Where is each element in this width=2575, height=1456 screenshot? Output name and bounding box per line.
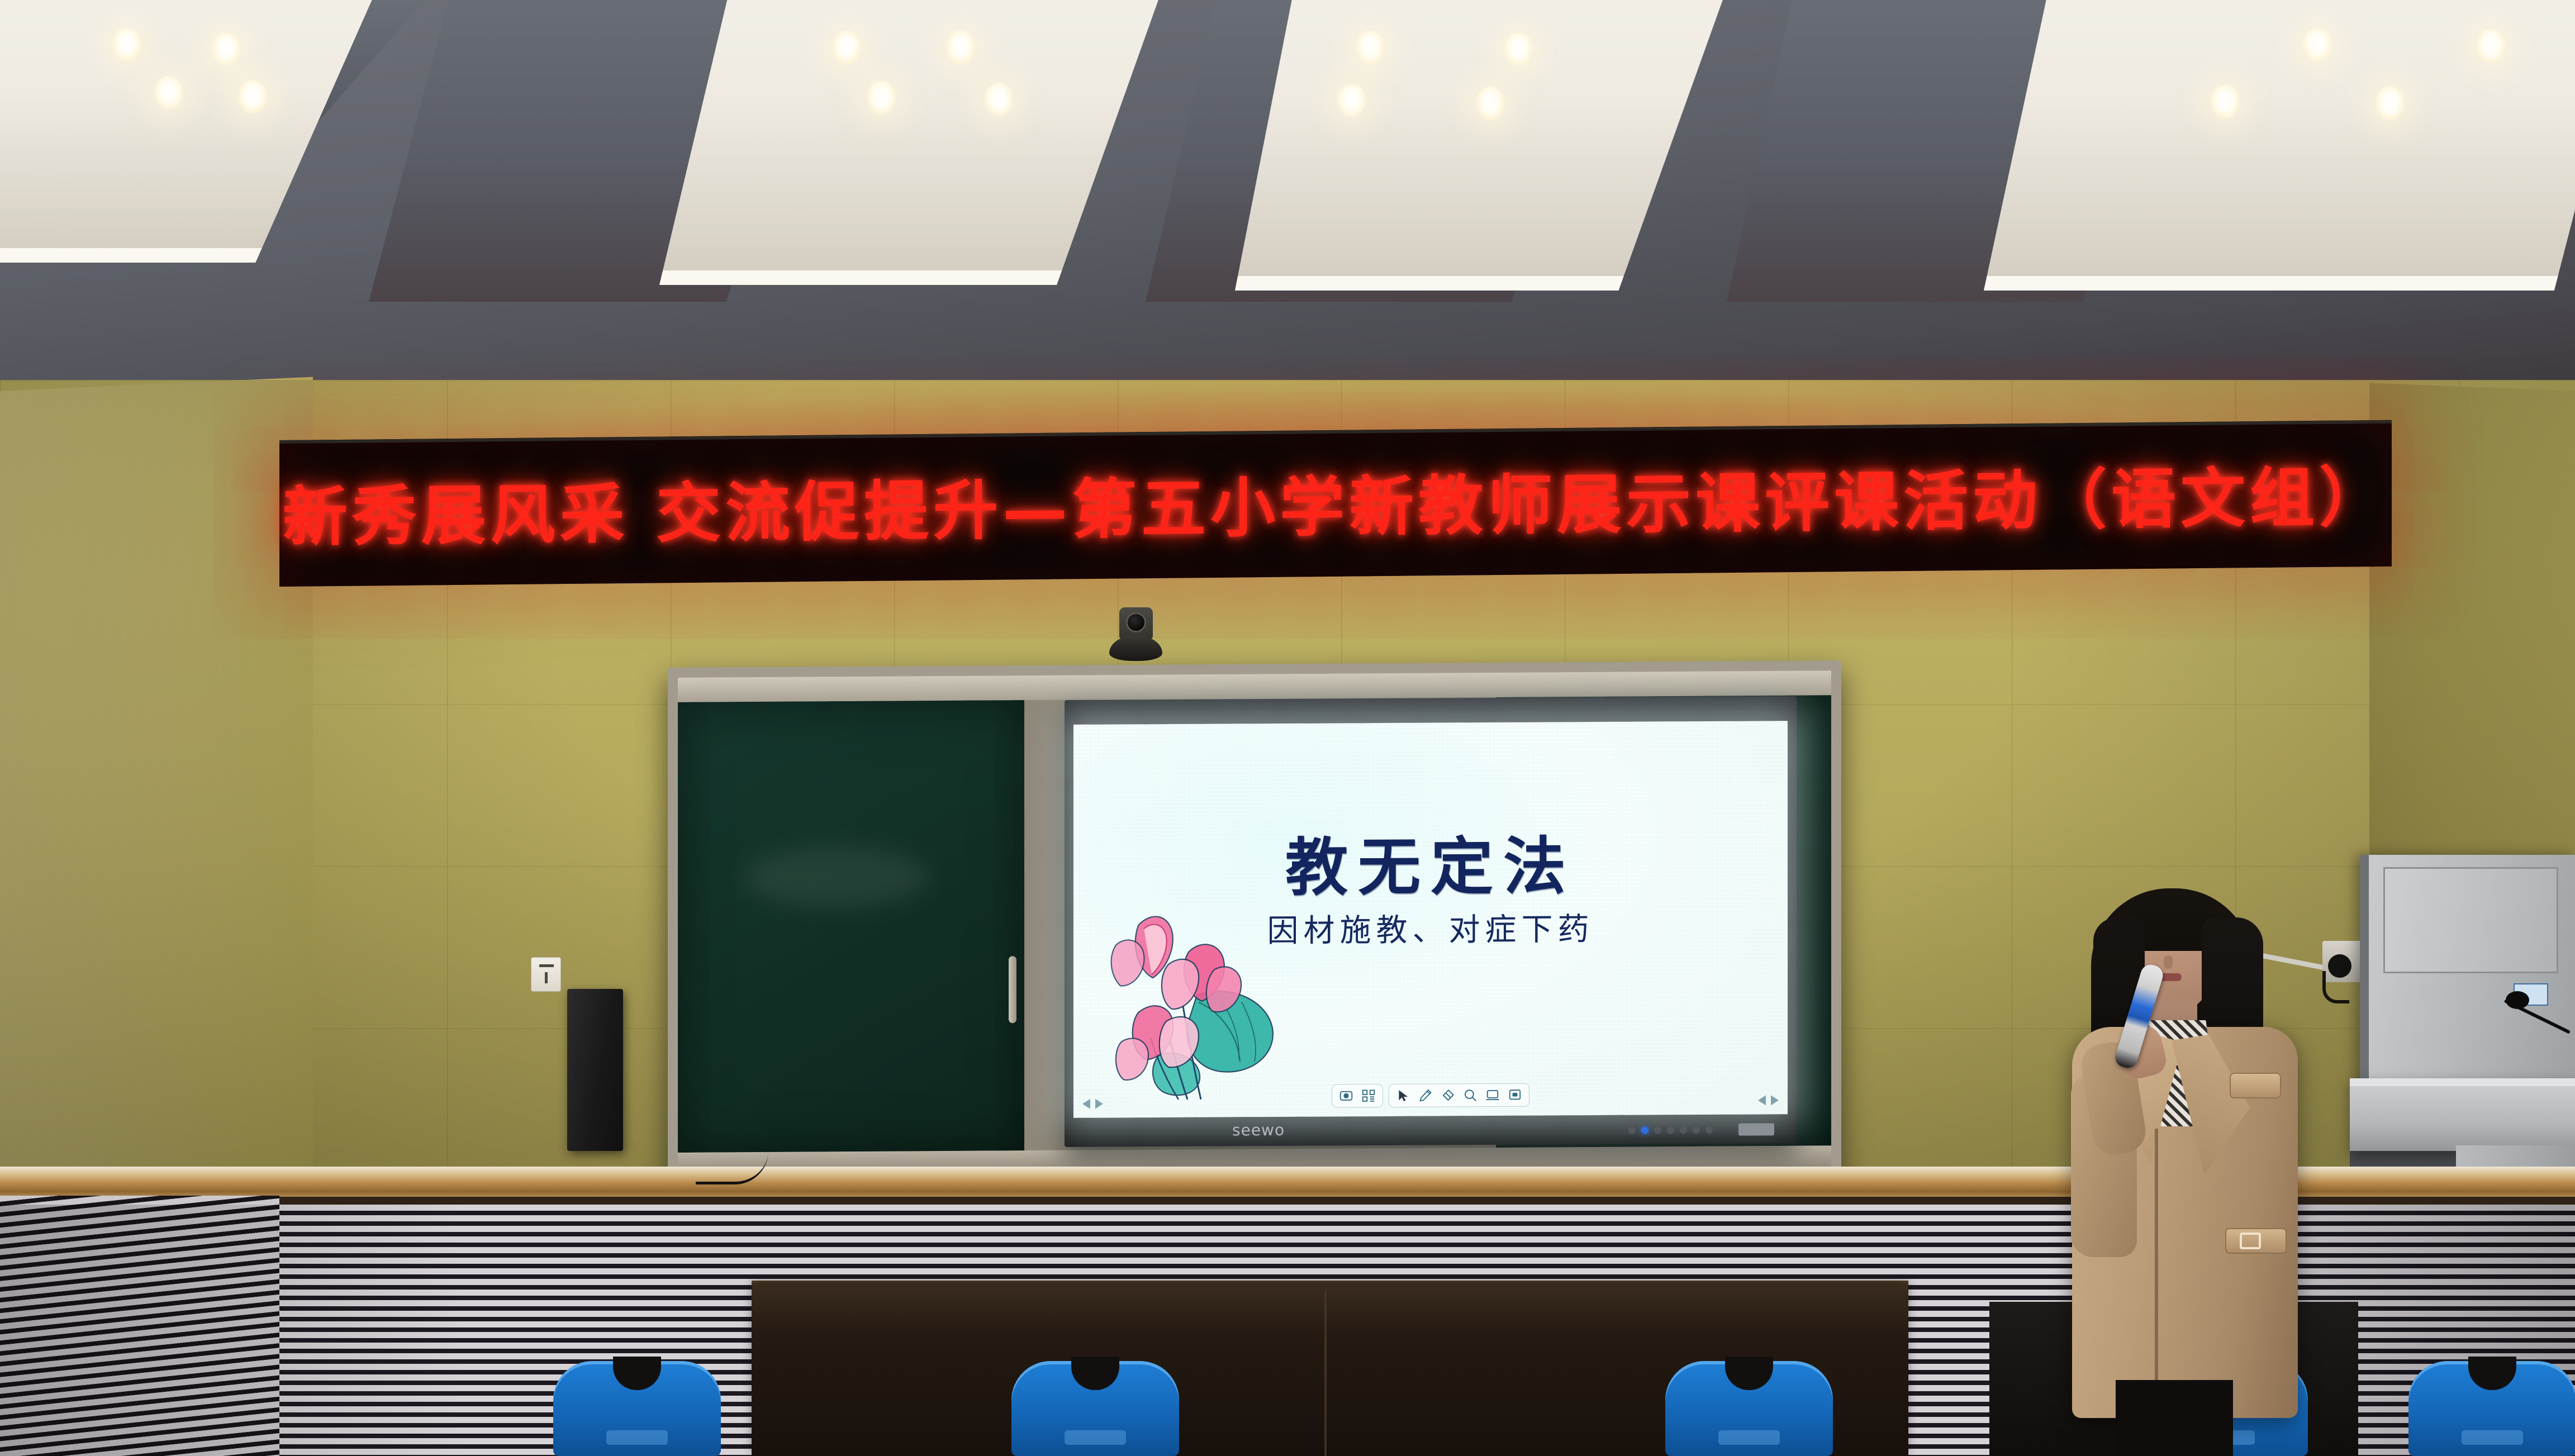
power-outlet[interactable] — [531, 957, 561, 992]
downlight — [1503, 32, 1533, 67]
downlight — [1475, 87, 1505, 121]
chalkboard-panel-left[interactable] — [678, 700, 1024, 1153]
audience-chair — [1665, 1361, 1833, 1456]
next-slide-icon[interactable] — [1095, 1099, 1103, 1109]
downlight — [237, 80, 268, 115]
ceiling-soffit-bay-3 — [1235, 0, 1727, 291]
classroom-photo-scene: 新秀展风采 交流促提升—第五小学新教师展示课评课活动（语文组） — [0, 0, 2575, 1456]
downlight — [211, 32, 241, 67]
home-icon[interactable] — [1339, 1088, 1353, 1103]
ptz-camera-lens-icon — [1126, 612, 1146, 632]
soffit-lip — [0, 248, 374, 263]
led-banner: 新秀展风采 交流促提升—第五小学新教师展示课评课活动（语文组） — [279, 420, 2392, 587]
front-desk-seam — [1324, 1292, 1327, 1456]
led-indicator — [1693, 1126, 1700, 1134]
led-indicator — [1628, 1127, 1636, 1134]
led-indicator — [1680, 1126, 1687, 1134]
eraser-icon[interactable] — [1441, 1088, 1455, 1102]
podium-desktop — [2350, 1078, 2575, 1151]
cuff-buckle — [2240, 1233, 2261, 1249]
slide-title: 教无定法 — [1073, 815, 1788, 909]
soffit-lip — [1984, 276, 2575, 291]
ceiling-soffit-bay-1 — [0, 0, 374, 263]
audience-chair — [1011, 1361, 1179, 1456]
audience-chair — [553, 1361, 721, 1456]
pen-icon[interactable] — [1418, 1088, 1433, 1103]
led-indicator-power — [1641, 1127, 1648, 1134]
slide-toolbar[interactable] — [1332, 1083, 1529, 1108]
speaking-teacher — [2062, 888, 2302, 1456]
soffit-lip — [1235, 276, 1727, 291]
ceiling-soffit-bay-2 — [659, 0, 1162, 285]
coat-placket — [2155, 1129, 2158, 1408]
downlight — [112, 28, 142, 63]
cursor-icon[interactable] — [1396, 1088, 1410, 1103]
next-slide-icon[interactable] — [1771, 1095, 1779, 1105]
whiteboard-indicator-leds — [1628, 1126, 1713, 1134]
downlight — [154, 76, 184, 111]
ceiling — [0, 0, 2575, 441]
presentation-icon[interactable] — [1508, 1088, 1522, 1102]
downlight — [946, 31, 976, 65]
led-indicator — [1705, 1126, 1713, 1134]
nose — [2164, 955, 2173, 969]
downlight — [1355, 31, 1385, 65]
podium-desktop-edge — [2350, 1078, 2575, 1086]
toolbar-group-left[interactable] — [1332, 1084, 1383, 1107]
bracket-cable — [2322, 971, 2349, 1003]
interactive-whiteboard[interactable]: 教无定法 因材施教、对症下药 — [1065, 696, 1797, 1147]
dark-skirt — [2116, 1380, 2233, 1456]
gooseneck-microphone-head — [2506, 991, 2529, 1009]
chalkboard-slider-handle[interactable] — [1009, 956, 1016, 1023]
toolbar-group-right[interactable] — [1389, 1083, 1529, 1107]
downlight — [2210, 85, 2240, 120]
slide-nav-right[interactable] — [1758, 1095, 1779, 1105]
whiteboard-brand-label: seewo — [1232, 1121, 1285, 1139]
slide-nav-left[interactable] — [1082, 1099, 1103, 1109]
downlight — [1337, 84, 1367, 118]
downlight — [832, 31, 862, 65]
led-indicator — [1654, 1126, 1661, 1134]
presentation-slide[interactable]: 教无定法 因材施教、对症下药 — [1073, 721, 1788, 1118]
prev-slide-icon[interactable] — [1758, 1095, 1766, 1105]
soffit-lip — [659, 270, 1162, 285]
downlight — [866, 81, 896, 116]
wall-speaker — [567, 989, 623, 1151]
downlight — [984, 83, 1014, 117]
audience-chair — [2408, 1361, 2575, 1456]
podium-upper-body — [2360, 855, 2575, 1089]
downlight — [2302, 28, 2332, 63]
slide-subtitle: 因材施教、对症下药 — [1073, 903, 1788, 952]
ptz-camera — [1109, 607, 1162, 661]
ptz-camera-base — [1109, 635, 1162, 661]
qr-code-icon[interactable] — [1361, 1088, 1376, 1103]
prev-slide-icon[interactable] — [1082, 1099, 1090, 1109]
podium-front-panel — [2383, 867, 2558, 973]
laptop-icon[interactable] — [1485, 1088, 1500, 1102]
whiteboard-bottom-bezel: seewo — [1065, 1114, 1797, 1147]
magnifier-icon[interactable] — [1463, 1088, 1477, 1102]
downlight — [2476, 29, 2506, 64]
downlight — [2375, 87, 2405, 121]
coat-epaulet — [2230, 1073, 2281, 1098]
led-indicator — [1667, 1126, 1674, 1134]
whiteboard-usb-port[interactable] — [1738, 1123, 1774, 1135]
